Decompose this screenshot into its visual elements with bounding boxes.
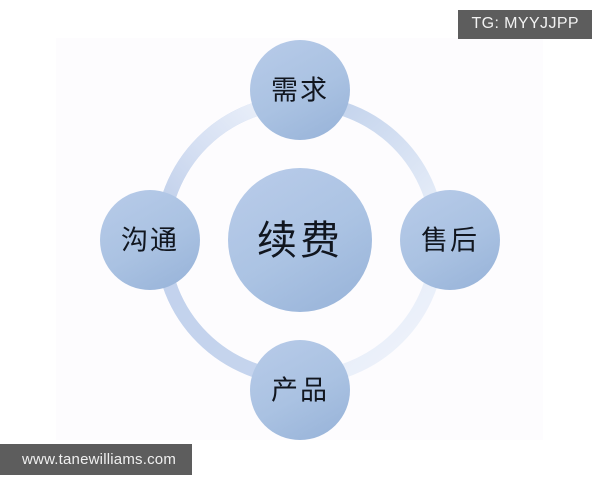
site-watermark: www.tanewilliams.com [0,444,192,475]
node-circle-bottom[interactable] [250,340,350,440]
diagram-canvas: 续费 需求 售后 产品 沟通 TG: MYYJJPP www.tanewilli… [0,0,600,480]
node-circle-center[interactable] [228,168,372,312]
tg-badge: TG: MYYJJPP [458,10,592,39]
node-circle-top[interactable] [250,40,350,140]
cycle-diagram [0,0,600,480]
node-circle-right[interactable] [400,190,500,290]
node-circle-left[interactable] [100,190,200,290]
